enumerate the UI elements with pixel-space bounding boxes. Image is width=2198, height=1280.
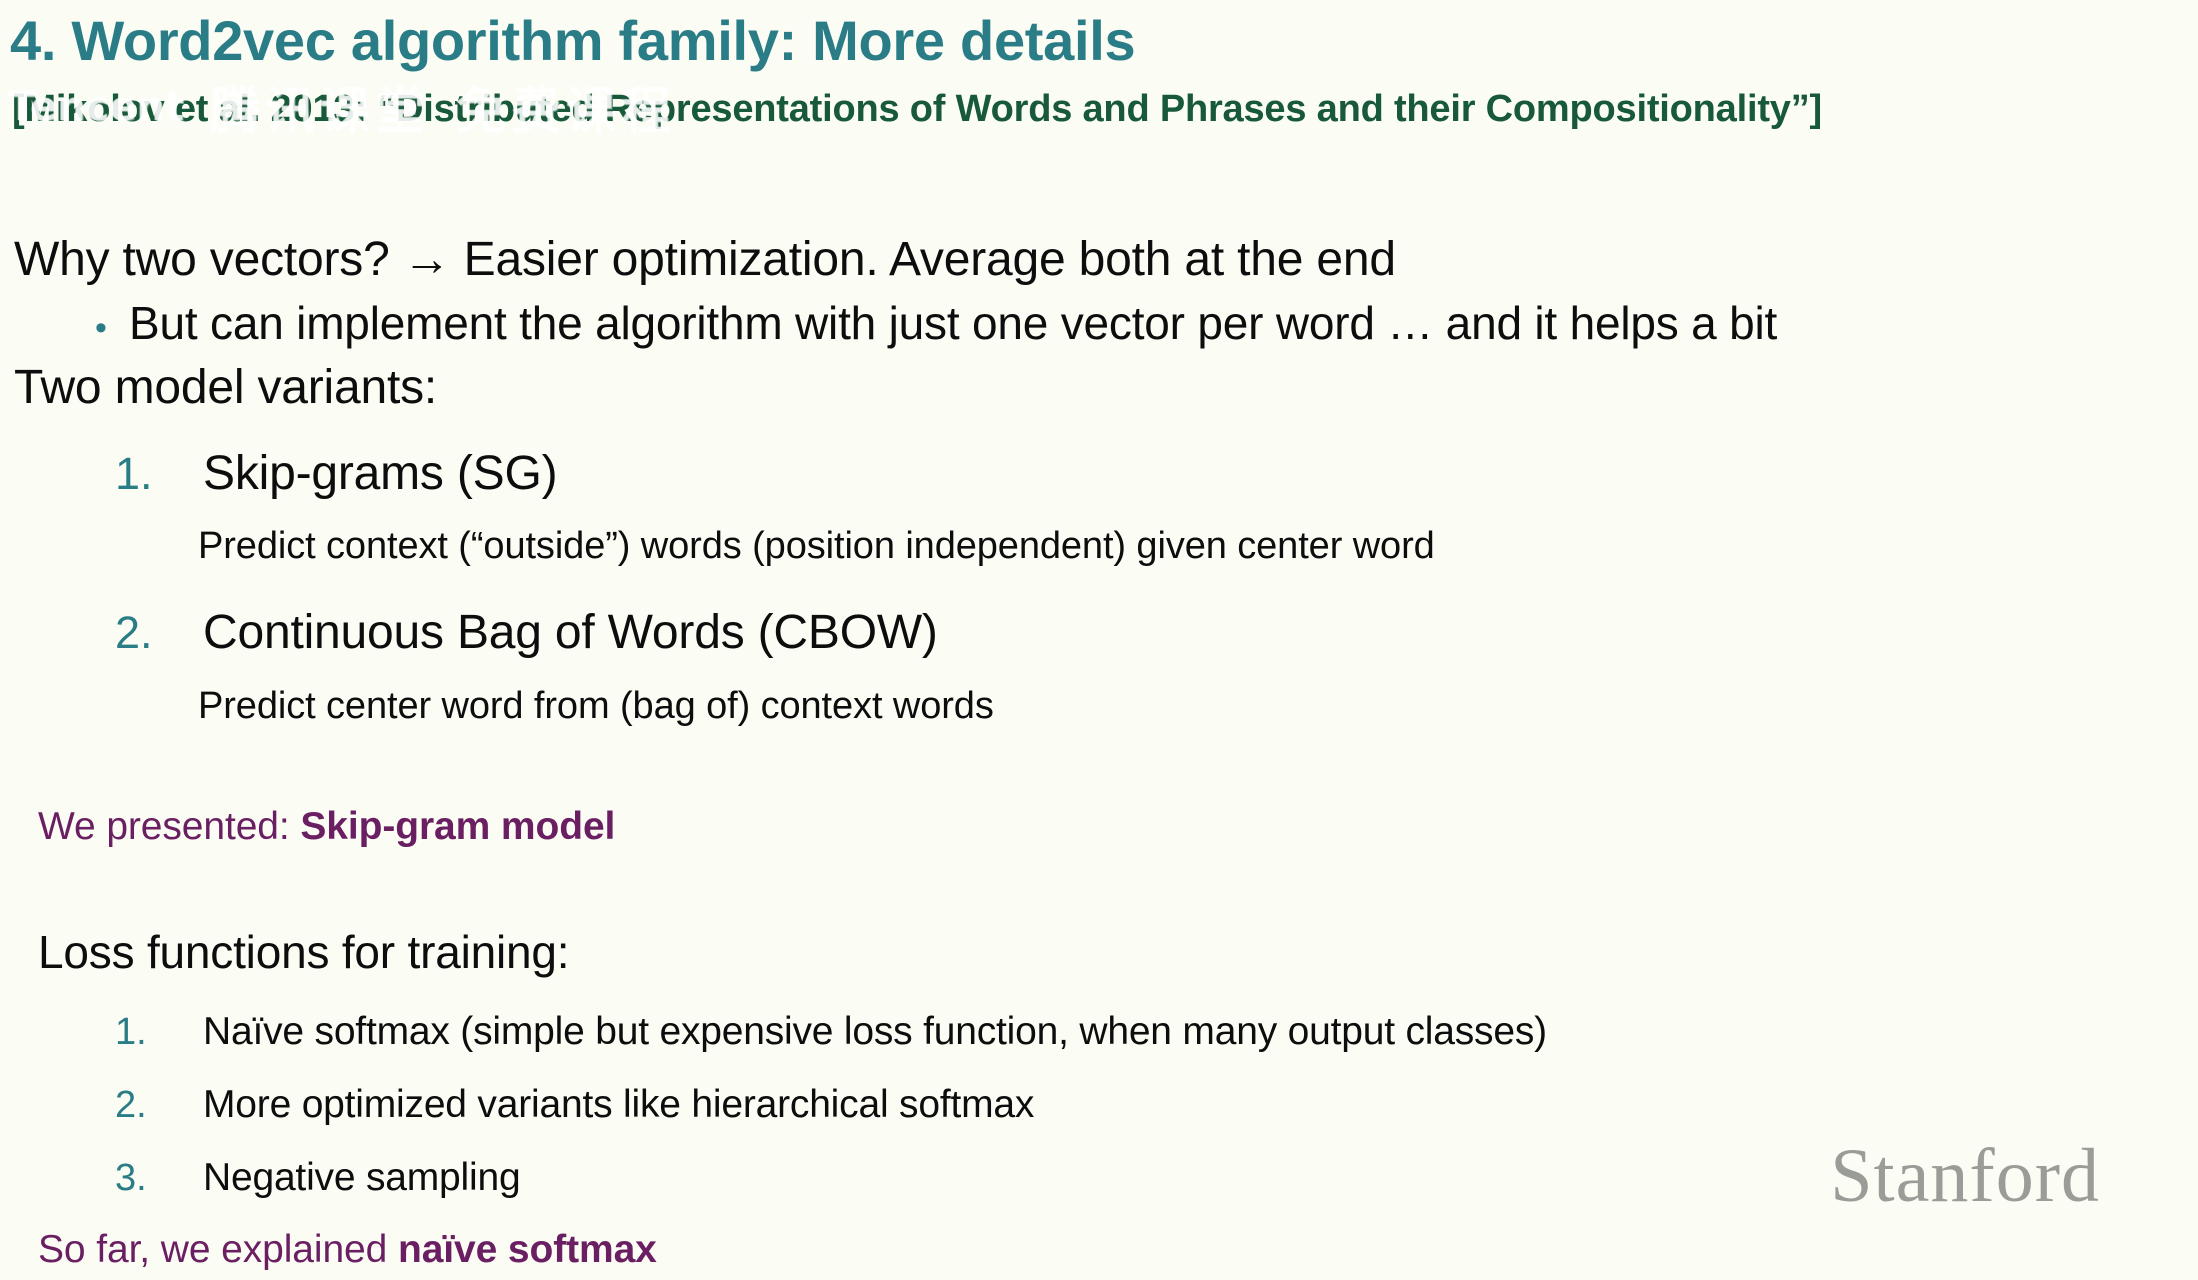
why-bullet-row: • But can implement the algorithm with j… xyxy=(95,296,1777,350)
two-model-variants-heading: Two model variants: xyxy=(14,360,437,415)
variant-marker-1: 1. xyxy=(115,448,203,500)
loss-row-2: 2. More optimized variants like hierarch… xyxy=(115,1083,1034,1127)
variant-marker-2: 2. xyxy=(115,607,203,659)
variant-row-1: 1. Skip-grams (SG) xyxy=(115,446,557,501)
variant-row-2: 2. Continuous Bag of Words (CBOW) xyxy=(115,605,938,660)
slide-canvas: 4. Word2vec algorithm family: More detai… xyxy=(0,0,2198,1280)
so-far-line: So far, we explained naïve softmax xyxy=(38,1228,657,1272)
variant-detail-2: Predict center word from (bag of) contex… xyxy=(198,685,994,728)
bullet-dot-icon: • xyxy=(95,311,129,345)
variant-detail-1: Predict context (“outside”) words (posit… xyxy=(198,525,1435,568)
variant-title-1: Skip-grams (SG) xyxy=(203,446,557,501)
loss-row-3: 3. Negative sampling xyxy=(115,1156,520,1200)
loss-marker-1: 1. xyxy=(115,1011,203,1054)
variant-title-2: Continuous Bag of Words (CBOW) xyxy=(203,605,938,660)
we-presented-bold: Skip-gram model xyxy=(300,805,615,848)
slide-body: Why two vectors? → Easier optimization. … xyxy=(0,0,2198,1280)
loss-marker-2: 2. xyxy=(115,1084,203,1127)
loss-text-2: More optimized variants like hierarchica… xyxy=(203,1083,1034,1127)
why-bullet-text: But can implement the algorithm with jus… xyxy=(129,296,1777,350)
loss-marker-3: 3. xyxy=(115,1157,203,1200)
so-far-prefix: So far, we explained xyxy=(38,1228,398,1271)
we-presented-prefix: We presented: xyxy=(38,805,300,848)
loss-text-1: Naïve softmax (simple but expensive loss… xyxy=(203,1010,1547,1054)
loss-text-3: Negative sampling xyxy=(203,1156,520,1200)
we-presented-line: We presented: Skip-gram model xyxy=(38,805,615,849)
so-far-bold: naïve softmax xyxy=(398,1228,657,1271)
loss-functions-heading: Loss functions for training: xyxy=(38,925,569,979)
why-two-vectors-line: Why two vectors? → Easier optimization. … xyxy=(14,232,1396,287)
loss-row-1: 1. Naïve softmax (simple but expensive l… xyxy=(115,1010,1547,1054)
